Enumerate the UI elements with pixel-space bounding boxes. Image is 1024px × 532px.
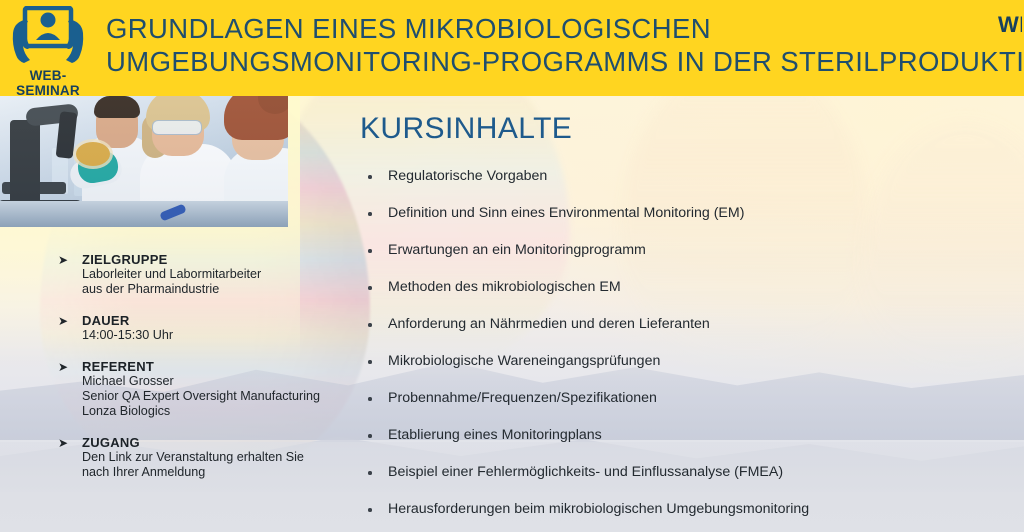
list-item: Definition und Sinn eines Environmental … xyxy=(360,205,1020,222)
page-title-line-2: UMGEBUNGSMONITORING-PROGRAMMS IN DER STE… xyxy=(106,45,1024,78)
detail-line: 14:00-15:30 Uhr xyxy=(82,328,358,343)
detail-term: ZIELGRUPPE xyxy=(82,252,358,267)
bullet-dot-icon xyxy=(368,212,372,216)
list-item: Regulatorische Vorgaben xyxy=(360,168,1020,185)
bullet-dot-icon xyxy=(368,508,372,512)
bullet-dot-icon xyxy=(368,434,372,438)
list-item: Anforderung an Nährmedien und deren Lief… xyxy=(360,316,1020,333)
photo-shading xyxy=(0,96,288,227)
detail-block-referent: ➤ REFERENT Michael Grosser Senior QA Exp… xyxy=(58,359,358,419)
list-item-label: Beispiel einer Fehlermöglichkeits- und E… xyxy=(388,464,783,480)
seminar-details: ➤ ZIELGRUPPE Laborleiter und Labormitarb… xyxy=(58,252,358,480)
detail-line: Senior QA Expert Oversight Manufacturing xyxy=(82,389,358,404)
detail-block-dauer: ➤ DAUER 14:00-15:30 Uhr xyxy=(58,313,358,343)
corner-brand-text: WE xyxy=(998,12,1022,38)
course-contents-heading: KURSINHALTE xyxy=(360,112,1020,146)
list-item-label: Anforderung an Nährmedien und deren Lief… xyxy=(388,316,710,332)
bullet-dot-icon xyxy=(368,397,372,401)
list-item-label: Etablierung eines Monitoringplans xyxy=(388,427,602,443)
lab-photo xyxy=(0,96,288,227)
course-contents-list: Regulatorische Vorgaben Definition und S… xyxy=(360,168,1020,518)
detail-term: DAUER xyxy=(82,313,358,328)
bullet-dot-icon xyxy=(368,286,372,290)
detail-line: Den Link zur Veranstaltung erhalten Sie xyxy=(82,450,358,465)
detail-line: Michael Grosser xyxy=(82,374,358,389)
list-item-label: Probennahme/Frequenzen/Spezifikationen xyxy=(388,390,657,406)
arrow-bullet-icon: ➤ xyxy=(58,436,72,450)
bullet-dot-icon xyxy=(368,323,372,327)
detail-line: aus der Pharmaindustrie xyxy=(82,282,358,297)
page-title: GRUNDLAGEN EINES MIKROBIOLOGISCHEN UMGEB… xyxy=(106,12,1024,78)
arrow-bullet-icon: ➤ xyxy=(58,253,72,267)
list-item-label: Definition und Sinn eines Environmental … xyxy=(388,205,744,221)
list-item-label: Herausforderungen beim mikrobiologischen… xyxy=(388,501,809,517)
detail-term: ZUGANG xyxy=(82,435,358,450)
list-item: Methoden des mikrobiologischen EM xyxy=(360,279,1020,296)
web-seminar-label: WEB-SEMINAR xyxy=(0,68,96,98)
list-item-label: Regulatorische Vorgaben xyxy=(388,168,547,184)
list-item-label: Mikrobiologische Wareneingangsprüfungen xyxy=(388,353,660,369)
detail-line: Lonza Biologics xyxy=(82,404,358,419)
list-item-label: Erwartungen an ein Monitoringprogramm xyxy=(388,242,646,258)
detail-block-zielgruppe: ➤ ZIELGRUPPE Laborleiter und Labormitarb… xyxy=(58,252,358,297)
header-bar: GRUNDLAGEN EINES MIKROBIOLOGISCHEN UMGEB… xyxy=(0,0,1024,96)
list-item: Etablierung eines Monitoringplans xyxy=(360,427,1020,444)
arrow-bullet-icon: ➤ xyxy=(58,314,72,328)
list-item: Herausforderungen beim mikrobiologischen… xyxy=(360,501,1020,518)
detail-line: Laborleiter und Labormitarbeiter xyxy=(82,267,358,282)
list-item-label: Methoden des mikrobiologischen EM xyxy=(388,279,621,295)
bullet-dot-icon xyxy=(368,249,372,253)
bullet-dot-icon xyxy=(368,471,372,475)
bullet-dot-icon xyxy=(368,175,372,179)
hands-holding-screen-icon xyxy=(8,6,88,68)
seminar-slide: GRUNDLAGEN EINES MIKROBIOLOGISCHEN UMGEB… xyxy=(0,0,1024,532)
course-contents: KURSINHALTE Regulatorische Vorgaben Defi… xyxy=(360,112,1020,518)
list-item: Beispiel einer Fehlermöglichkeits- und E… xyxy=(360,464,1020,481)
list-item: Erwartungen an ein Monitoringprogramm xyxy=(360,242,1020,259)
page-title-line-1: GRUNDLAGEN EINES MIKROBIOLOGISCHEN xyxy=(106,13,711,44)
detail-term: REFERENT xyxy=(82,359,358,374)
list-item: Mikrobiologische Wareneingangsprüfungen xyxy=(360,353,1020,370)
arrow-bullet-icon: ➤ xyxy=(58,360,72,374)
detail-line: nach Ihrer Anmeldung xyxy=(82,465,358,480)
list-item: Probennahme/Frequenzen/Spezifikationen xyxy=(360,390,1020,407)
bullet-dot-icon xyxy=(368,360,372,364)
detail-block-zugang: ➤ ZUGANG Den Link zur Veranstaltung erha… xyxy=(58,435,358,480)
web-seminar-logo: WEB-SEMINAR xyxy=(0,0,96,96)
